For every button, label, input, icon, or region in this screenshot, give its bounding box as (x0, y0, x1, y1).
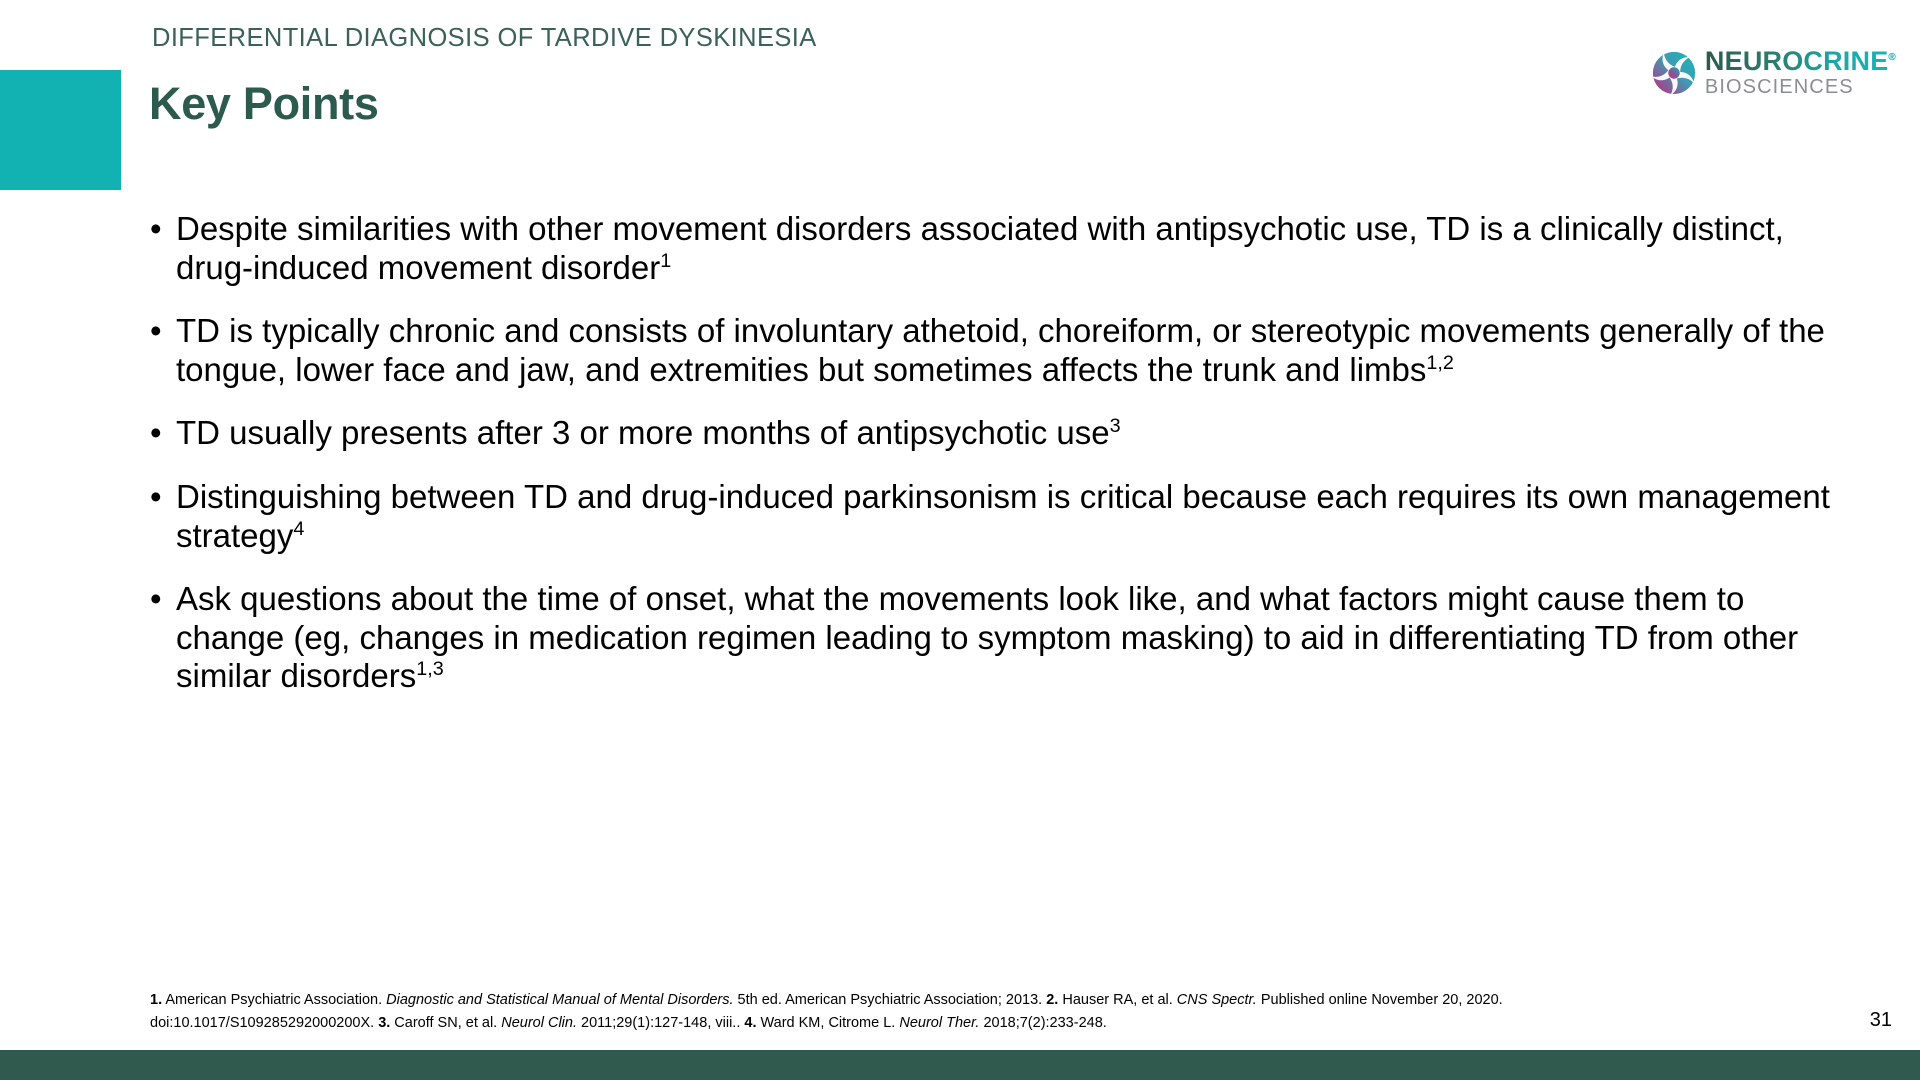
bullet-marker-icon: • (150, 478, 176, 555)
list-item-superscript: 4 (293, 518, 304, 540)
accent-block-teal (0, 70, 121, 190)
list-item-superscript: 1,2 (1426, 352, 1454, 374)
list-item-text: Despite similarities with other movement… (176, 210, 1840, 287)
list-item-body: TD usually presents after 3 or more mont… (176, 414, 1110, 451)
reference-number: 3. (378, 1015, 390, 1031)
bullet-marker-icon: • (150, 580, 176, 696)
reference-title: Neurol Ther. (899, 1015, 979, 1031)
reference-title: Diagnostic and Statistical Manual of Men… (386, 992, 733, 1008)
neurocrine-logo: NEUROCRINE® BIOSCIENCES (1652, 48, 1896, 97)
list-item-text: TD is typically chronic and consists of … (176, 312, 1840, 389)
reference-entry: 4. Ward KM, Citrome L. Neurol Ther. 2018… (744, 1015, 1106, 1031)
list-item: • Distinguishing between TD and drug-ind… (150, 478, 1840, 555)
key-points-list: • Despite similarities with other moveme… (150, 210, 1840, 696)
list-item-body: Despite similarities with other movement… (176, 210, 1784, 286)
reference-title: CNS Spectr. (1177, 992, 1257, 1008)
page-title: Key Points (149, 78, 379, 130)
logo-wordmark: NEUROCRINE® (1705, 48, 1896, 75)
references-block: 1. American Psychiatric Association. Dia… (150, 989, 1730, 1034)
reference-pre: Hauser RA, et al. (1058, 992, 1176, 1008)
list-item: • TD usually presents after 3 or more mo… (150, 414, 1840, 453)
logo-subtitle: BIOSCIENCES (1705, 77, 1896, 97)
list-item-text: Distinguishing between TD and drug-induc… (176, 478, 1840, 555)
list-item-superscript: 1 (660, 250, 671, 272)
list-item-superscript: 1,3 (416, 658, 444, 680)
reference-number: 1. (150, 992, 162, 1008)
list-item-body: Distinguishing between TD and drug-induc… (176, 478, 1830, 554)
list-item-text: TD usually presents after 3 or more mont… (176, 414, 1840, 453)
reference-pre: Ward KM, Citrome L. (756, 1015, 899, 1031)
reference-number: 4. (744, 1015, 756, 1031)
reference-pre: Caroff SN, et al. (390, 1015, 501, 1031)
list-item-superscript: 3 (1110, 415, 1121, 437)
reference-post: 5th ed. American Psychiatric Association… (734, 992, 1047, 1008)
list-item: • Ask questions about the time of onset,… (150, 580, 1840, 696)
bullet-marker-icon: • (150, 312, 176, 389)
reference-number: 2. (1046, 992, 1058, 1008)
slide-eyebrow-heading: DIFFERENTIAL DIAGNOSIS OF TARDIVE DYSKIN… (152, 24, 817, 53)
slide-number: 31 (1870, 1009, 1892, 1032)
logo-wordmark-text: NEUROCRINE (1705, 46, 1889, 76)
bullet-marker-icon: • (150, 210, 176, 287)
reference-title: Neurol Clin. (501, 1015, 577, 1031)
list-item: • Despite similarities with other moveme… (150, 210, 1840, 287)
neurocrine-swirl-icon (1652, 51, 1696, 95)
bullet-marker-icon: • (150, 414, 176, 453)
list-item: • TD is typically chronic and consists o… (150, 312, 1840, 389)
registered-trademark-icon: ® (1888, 52, 1896, 63)
footer-bar (0, 1050, 1920, 1080)
reference-entry: 1. American Psychiatric Association. Dia… (150, 992, 1046, 1008)
list-item-text: Ask questions about the time of onset, w… (176, 580, 1840, 696)
reference-entry: 3. Caroff SN, et al. Neurol Clin. 2011;2… (378, 1015, 744, 1031)
reference-post: 2011;29(1):127-148, viii.. (577, 1015, 744, 1031)
reference-pre: American Psychiatric Association. (162, 992, 386, 1008)
reference-post: 2018;7(2):233-248. (979, 1015, 1106, 1031)
list-item-body: TD is typically chronic and consists of … (176, 312, 1825, 388)
